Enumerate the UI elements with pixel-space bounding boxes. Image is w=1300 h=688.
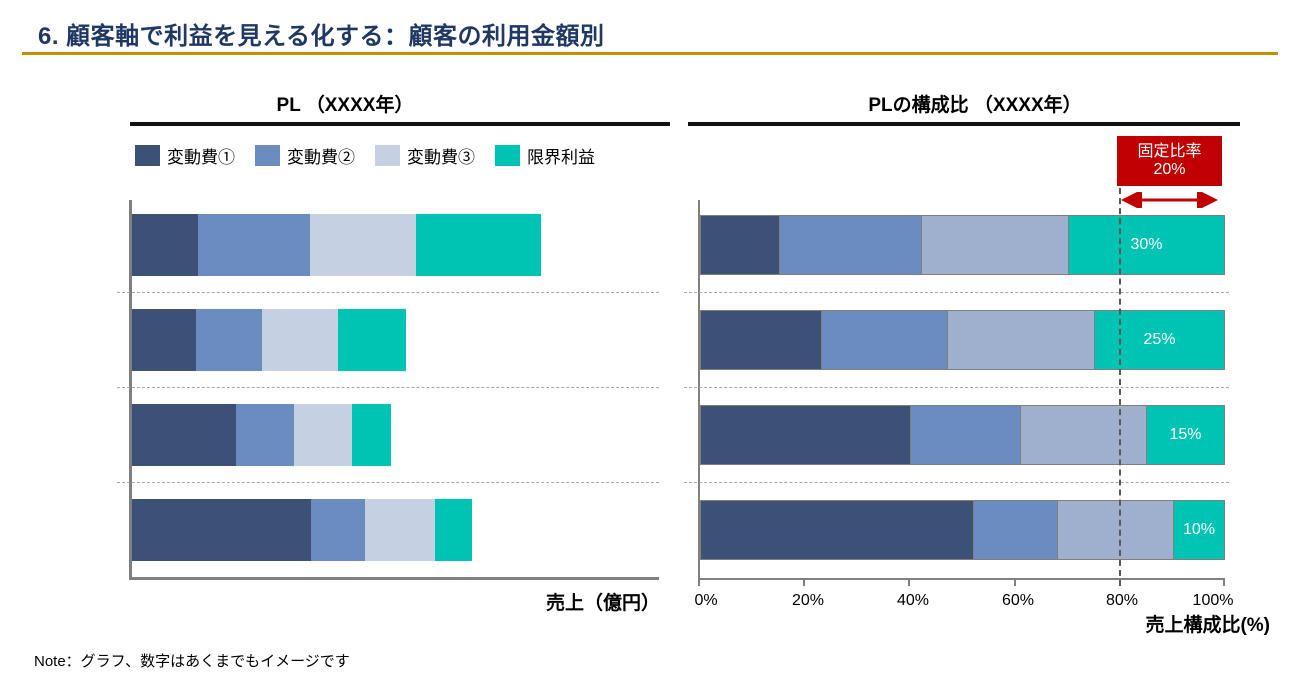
- right-bar-row-light[interactable]: 25%: [700, 310, 1225, 370]
- left-bar-row-light[interactable]: [132, 309, 406, 371]
- right-x-axis-label: 売上構成比(%): [670, 610, 1270, 637]
- bar-segment-marginal-profit: 25%: [1094, 310, 1225, 370]
- legend-item-2: 変動費③: [375, 143, 475, 168]
- legend-label: 変動費②: [287, 143, 355, 168]
- pl-chart-panel: PL （XXXX年） 変動費① 変動費② 変動費③ 限界利益 ヘビー ユーザー: [20, 80, 670, 640]
- bar-segment-variable-cost-1: [132, 214, 198, 276]
- bar-segment-variable-cost-3: [310, 214, 416, 276]
- x-tick-label-1: 20%: [792, 592, 824, 610]
- fixed-ratio-callout: 固定比率 20%: [1117, 136, 1222, 186]
- right-bar-row-dormant[interactable]: 15%: [700, 405, 1225, 465]
- row-separator: [117, 482, 659, 483]
- bar-segment-marginal-profit: 15%: [1146, 405, 1225, 465]
- bar-segment-variable-cost-2: [311, 499, 365, 561]
- x-tick: [1014, 578, 1016, 586]
- bar-segment-variable-cost-2: [821, 310, 947, 370]
- legend-swatch-icon: [135, 145, 160, 166]
- row-separator: [684, 482, 1229, 483]
- legend-label: 限界利益: [527, 143, 595, 168]
- bar-segment-marginal-profit: [338, 309, 406, 371]
- bar-segment-variable-cost-1: [132, 499, 311, 561]
- bar-segment-marginal-profit: [352, 404, 391, 466]
- x-tick-label-2: 40%: [897, 592, 929, 610]
- fixed-ratio-double-arrow-icon: [1117, 192, 1222, 208]
- segment-data-label: 25%: [1143, 331, 1175, 349]
- x-tick: [803, 578, 805, 586]
- bar-segment-variable-cost-3: [365, 499, 435, 561]
- threshold-line-80-percent: [1119, 178, 1121, 586]
- left-category-label-2: 休眠 ユーザー: [0, 407, 10, 450]
- x-tick-label-3: 60%: [1002, 592, 1034, 610]
- x-tick-label-4: 80%: [1106, 592, 1138, 610]
- bar-segment-variable-cost-2: [196, 309, 262, 371]
- left-category-label-0: ヘビー ユーザー: [0, 217, 10, 260]
- legend-label: 変動費③: [407, 143, 475, 168]
- left-bar-row-new[interactable]: [132, 499, 472, 561]
- bar-segment-variable-cost-3: [1020, 405, 1146, 465]
- segment-data-label: 15%: [1169, 426, 1201, 444]
- x-tick-label-0: 0%: [694, 592, 717, 610]
- bar-segment-variable-cost-2: [973, 500, 1057, 560]
- legend-swatch-icon: [495, 145, 520, 166]
- bar-segment-variable-cost-2: [236, 404, 294, 466]
- x-tick-label-5: 100%: [1193, 592, 1234, 610]
- bar-segment-marginal-profit: [435, 499, 472, 561]
- left-chart-plot-area: ヘビー ユーザー ライト ユーザー 休眠 ユーザー: [129, 200, 659, 580]
- chart-legend: 変動費① 変動費② 変動費③ 限界利益: [135, 143, 595, 168]
- right-chart-plot-area: 0% 20% 40% 60% 80% 100% 30% 25%: [698, 200, 1225, 580]
- left-title-rule: [130, 122, 670, 126]
- segment-data-label: 30%: [1130, 236, 1162, 254]
- bar-segment-variable-cost-3: [262, 309, 338, 371]
- left-bar-row-dormant[interactable]: [132, 404, 391, 466]
- bar-segment-variable-cost-2: [779, 215, 921, 275]
- row-separator: [117, 292, 659, 293]
- left-bar-row-heavy[interactable]: [132, 214, 541, 276]
- legend-item-3: 限界利益: [495, 143, 595, 168]
- bar-segment-variable-cost-3: [1057, 500, 1173, 560]
- bar-segment-variable-cost-1: [132, 309, 196, 371]
- bar-segment-marginal-profit: 30%: [1068, 215, 1225, 275]
- legend-label: 変動費①: [167, 143, 235, 168]
- bar-segment-variable-cost-1: [700, 405, 910, 465]
- bar-segment-variable-cost-1: [700, 310, 821, 370]
- bar-segment-variable-cost-3: [921, 215, 1068, 275]
- x-tick: [698, 578, 700, 586]
- row-separator: [117, 387, 659, 388]
- bar-segment-variable-cost-2: [198, 214, 310, 276]
- right-bar-row-new[interactable]: 10%: [700, 500, 1225, 560]
- bar-segment-variable-cost-1: [700, 215, 779, 275]
- left-x-axis: [129, 577, 659, 580]
- bar-segment-variable-cost-3: [294, 404, 352, 466]
- bar-segment-marginal-profit: [416, 214, 541, 276]
- bar-segment-variable-cost-3: [947, 310, 1094, 370]
- fixed-ratio-label: 固定比率: [1137, 143, 1201, 161]
- footnote: Note：グラフ、数字はあくまでもイメージです: [34, 650, 350, 671]
- right-bar-row-heavy[interactable]: 30%: [700, 215, 1225, 275]
- x-tick: [1223, 578, 1225, 586]
- page-title: 6. 顧客軸で利益を見える化する：顧客の利用金額別: [38, 16, 604, 51]
- right-x-axis: [698, 578, 1225, 580]
- right-title-rule: [688, 122, 1240, 126]
- title-underline-rule: [22, 52, 1278, 55]
- left-x-axis-label: 売上（億円）: [20, 588, 660, 615]
- right-chart-title: PLの構成比 （XXXX年）: [670, 90, 1280, 117]
- row-separator: [684, 292, 1229, 293]
- fixed-ratio-value: 20%: [1153, 161, 1185, 179]
- bar-segment-variable-cost-2: [910, 405, 1020, 465]
- left-category-label-1: ライト ユーザー: [0, 312, 10, 355]
- legend-item-1: 変動費②: [255, 143, 355, 168]
- left-chart-title: PL （XXXX年）: [20, 90, 670, 117]
- left-category-label-3: 新規 ユーザー: [0, 502, 10, 545]
- row-separator: [684, 387, 1229, 388]
- bar-segment-marginal-profit: 10%: [1173, 500, 1225, 560]
- legend-swatch-icon: [375, 145, 400, 166]
- bar-segment-variable-cost-1: [700, 500, 973, 560]
- legend-item-0: 変動費①: [135, 143, 235, 168]
- bar-segment-variable-cost-1: [132, 404, 236, 466]
- segment-data-label: 10%: [1183, 521, 1215, 539]
- legend-swatch-icon: [255, 145, 280, 166]
- x-tick: [908, 578, 910, 586]
